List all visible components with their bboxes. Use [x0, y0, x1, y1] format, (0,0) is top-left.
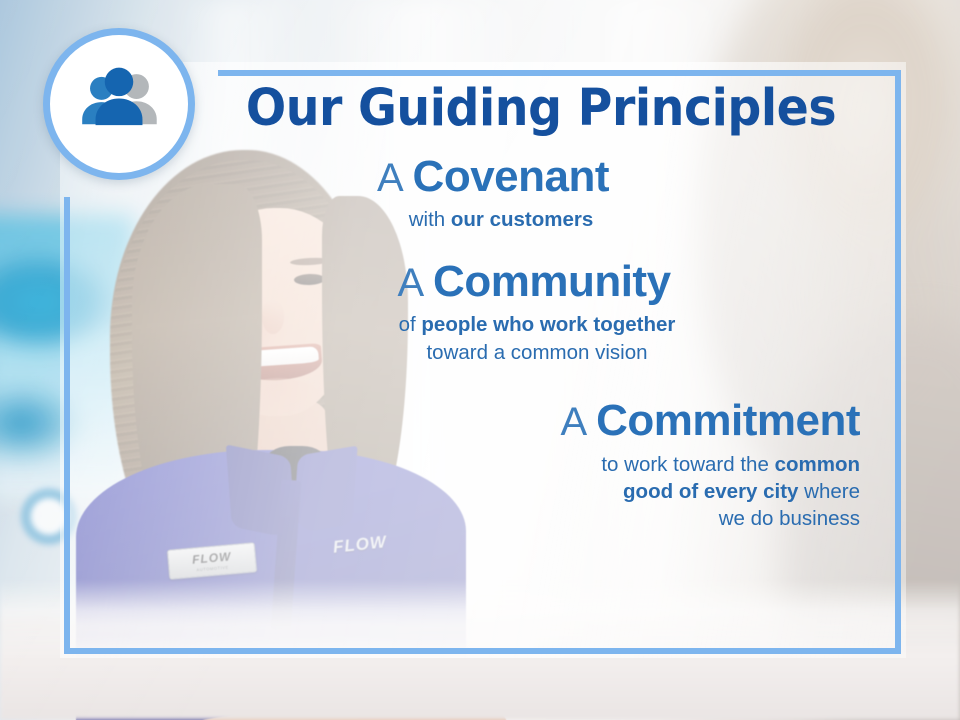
subtext-line: toward a common vision — [200, 339, 874, 366]
principle-heading: A Community — [200, 259, 882, 305]
principle-commitment: A Commitment to work toward the common g… — [200, 398, 882, 533]
people-group-icon — [73, 58, 165, 150]
subtext-run: with — [409, 208, 451, 231]
page-title: Our Guiding Principles — [224, 82, 858, 136]
subtext-line: with our customers — [200, 206, 802, 233]
principle-community: A Community of people who work together … — [200, 259, 882, 366]
principles-content: Our Guiding Principles A Covenant with o… — [200, 82, 882, 533]
principle-heading: A Covenant — [200, 154, 882, 200]
frame-border-right — [895, 70, 901, 654]
principle-subtext: with our customers — [200, 206, 882, 233]
principle-subtext: of people who work together toward a com… — [200, 311, 882, 366]
subtext-run: to work toward the — [601, 453, 774, 476]
subtext-run: we do business — [719, 507, 860, 530]
principle-covenant: A Covenant with our customers — [200, 154, 882, 234]
principle-keyword: Commitment — [596, 396, 860, 445]
principle-keyword: Community — [433, 257, 671, 306]
principle-heading: A Commitment — [200, 398, 882, 444]
subtext-run: of — [399, 313, 422, 336]
subtext-run: where — [798, 480, 860, 503]
frame-border-bottom — [64, 648, 901, 654]
subtext-line: of people who work together — [200, 311, 874, 338]
principle-article: A — [377, 156, 413, 200]
principle-keyword: Covenant — [413, 152, 609, 201]
subtext-run-bold: people who work together — [421, 313, 675, 336]
guiding-principles-poster: FLOW AUTOMOTIVE FLOW — [0, 0, 960, 720]
frame-border-left — [64, 197, 70, 654]
subtext-run-bold: common — [775, 453, 860, 476]
subtext-run-bold: our customers — [451, 208, 593, 231]
subtext-run: toward a common vision — [426, 341, 647, 364]
principle-article: A — [561, 400, 597, 444]
subtext-line: we do business — [200, 505, 860, 532]
principle-article: A — [397, 261, 433, 305]
subtext-run-bold: good of every city — [623, 480, 798, 503]
subtext-line: good of every city where — [200, 478, 860, 505]
principle-subtext: to work toward the common good of every … — [200, 451, 882, 533]
subtext-line: to work toward the common — [200, 451, 860, 478]
frame-border-top — [218, 70, 901, 76]
people-group-icon-badge — [43, 28, 195, 180]
